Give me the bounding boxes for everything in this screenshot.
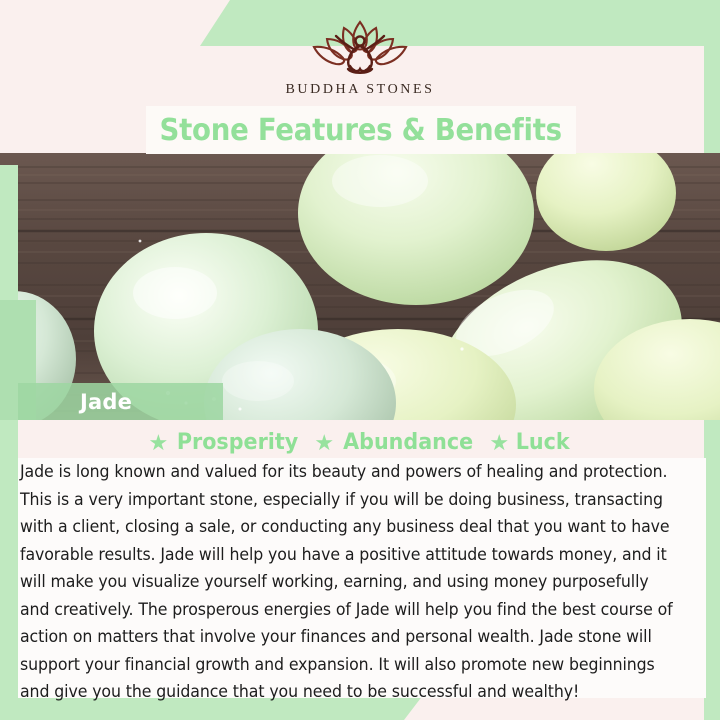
description-panel: Jade is long known and valued for its be… bbox=[18, 458, 706, 698]
brand-header: BUDDHA STONES bbox=[0, 0, 720, 110]
benefit-item-abundance: ★ Abundance bbox=[314, 430, 477, 455]
benefits-row: ★ Prosperity ★ Abundance ★ Luck bbox=[0, 430, 720, 455]
page-title: Stone Features & Benefits bbox=[160, 113, 562, 148]
star-icon: ★ bbox=[149, 432, 169, 454]
brand-name: BUDDHA STONES bbox=[285, 82, 434, 98]
benefit-item-prosperity: ★ Prosperity bbox=[149, 430, 303, 455]
description-text: Jade is long known and valued for its be… bbox=[20, 458, 673, 706]
star-icon: ★ bbox=[314, 432, 334, 454]
jade-stones-photo bbox=[0, 153, 720, 420]
stone-name-band: Jade bbox=[18, 383, 223, 420]
jade-stones-illustration bbox=[0, 153, 720, 420]
stone-feature-card: BUDDHA STONES Stone Features & Benefits bbox=[0, 0, 720, 720]
benefit-item-luck: ★ Luck bbox=[489, 430, 571, 455]
star-icon: ★ bbox=[489, 432, 509, 454]
title-banner: Stone Features & Benefits bbox=[146, 106, 576, 154]
benefit-label: Prosperity bbox=[177, 430, 298, 455]
stone-name-label: Jade bbox=[80, 390, 132, 414]
benefit-label: Abundance bbox=[343, 430, 473, 455]
benefit-label: Luck bbox=[516, 430, 570, 455]
lotus-meditation-logo-icon bbox=[300, 14, 420, 80]
